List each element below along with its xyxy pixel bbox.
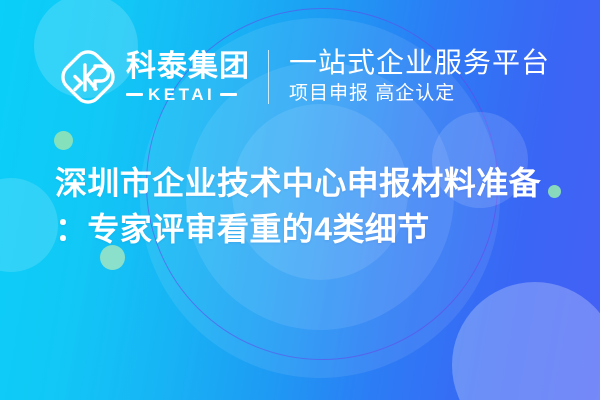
brand-tagline: 一站式企业服务平台 项目申报 高企认定	[289, 47, 550, 106]
blob-circle-bottom-right	[452, 282, 600, 400]
headline-line-1: 深圳市企业技术中心申报材料准备	[55, 160, 575, 206]
headline-block: 深圳市企业技术中心申报材料准备 ：专家评审看重的4类细节	[55, 160, 575, 252]
headline-line-2: ：专家评审看重的4类细节	[55, 206, 575, 252]
ketai-monogram-icon	[56, 45, 120, 109]
tagline-secondary: 项目申报 高企认定	[289, 82, 550, 107]
brand-logo[interactable]: 科泰集团 KETAI	[56, 45, 250, 109]
brand-wordmark: 科泰集团 KETAI	[126, 51, 250, 103]
promo-banner: 科泰集团 KETAI 一站式企业服务平台 项目申报 高企认定 深圳市企业技术中心…	[0, 0, 600, 400]
blob-circle-left-edge	[0, 178, 58, 272]
banner-header: 科泰集团 KETAI 一站式企业服务平台 项目申报 高企认定	[0, 36, 600, 118]
header-divider	[268, 50, 269, 104]
wordmark-rule-right	[220, 93, 237, 96]
tagline-primary: 一站式企业服务平台	[289, 47, 550, 78]
accent-dot-upper-left	[54, 131, 73, 150]
wordmark-rule-left	[126, 93, 143, 96]
brand-name-en-row: KETAI	[126, 86, 250, 103]
brand-name-cn: 科泰集团	[126, 51, 250, 83]
brand-name-en: KETAI	[148, 86, 215, 103]
